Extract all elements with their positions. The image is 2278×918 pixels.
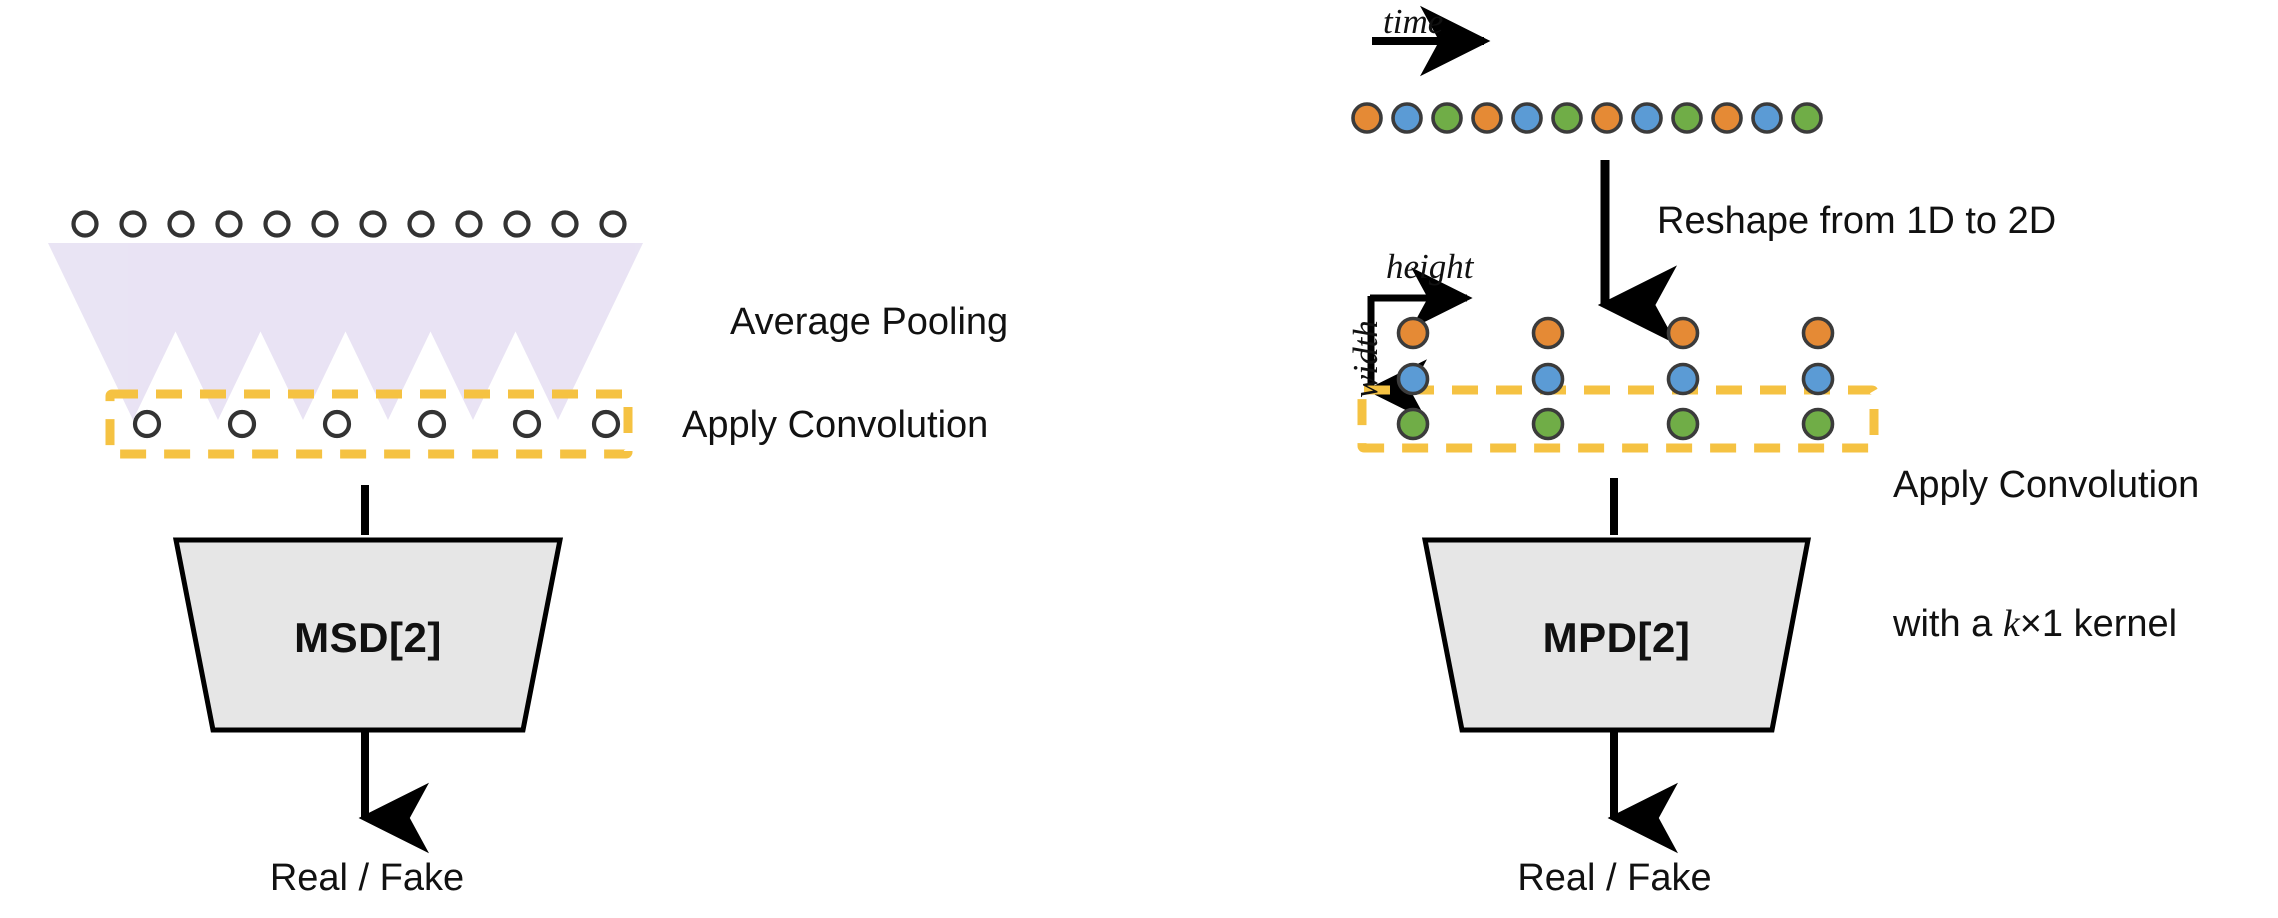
mpd-conv-kernel-k: k xyxy=(2003,603,2020,645)
msd-pooled-circle xyxy=(135,412,159,436)
mpd-grid-circle-green xyxy=(1804,410,1833,439)
msd-output-label: Real / Fake xyxy=(175,855,559,901)
mpd-grid-circle-blue xyxy=(1669,365,1698,394)
mpd-grid-circle-orange xyxy=(1669,319,1698,348)
width-axis-label: width xyxy=(1345,320,1388,398)
msd-input-circle xyxy=(506,213,529,236)
time-axis-label: time xyxy=(1383,1,1443,44)
mpd-input-circle-green xyxy=(1793,104,1821,132)
diagram-canvas: Average Pooling Apply Convolution MSD[2]… xyxy=(0,0,2278,918)
msd-input-circle xyxy=(602,213,625,236)
msd-pooled-circle xyxy=(230,412,254,436)
mpd-grid-circle-green xyxy=(1669,410,1698,439)
msd-apply-convolution-label: Apply Convolution xyxy=(682,402,988,448)
mpd-input-circle-green xyxy=(1553,104,1581,132)
mpd-input-circle-green xyxy=(1433,104,1461,132)
msd-input-circle xyxy=(170,213,193,236)
mpd-input-circle-green xyxy=(1673,104,1701,132)
mpd-conv-line-1: Apply Convolution xyxy=(1893,462,2199,508)
mpd-output-label: Real / Fake xyxy=(1423,855,1806,901)
msd-pooled-circle xyxy=(325,412,349,436)
mpd-grid-circle-blue xyxy=(1399,365,1428,394)
msd-input-circle xyxy=(74,213,97,236)
msd-input-circle-row xyxy=(74,213,625,236)
mpd-conv-suffix: ×1 kernel xyxy=(2020,603,2177,645)
mpd-input-circle-blue xyxy=(1393,104,1421,132)
mpd-apply-convolution-label: Apply Convolution with a k×1 kernel xyxy=(1893,369,2199,740)
mpd-input-circle-row xyxy=(1353,104,1821,132)
msd-input-circle xyxy=(122,213,145,236)
mpd-input-circle-orange xyxy=(1713,104,1741,132)
average-pooling-label: Average Pooling xyxy=(730,299,1008,345)
mpd-grid-circle-green xyxy=(1534,410,1563,439)
msd-pooled-circle-row xyxy=(135,412,618,436)
mpd-grid-circle-blue xyxy=(1534,365,1563,394)
msd-pooled-circle xyxy=(515,412,539,436)
msd-input-circle xyxy=(554,213,577,236)
msd-input-circle xyxy=(218,213,241,236)
msd-pooled-circle xyxy=(594,412,618,436)
mpd-grid-circle-orange xyxy=(1399,319,1428,348)
mpd-grid-circle-green xyxy=(1399,410,1428,439)
msd-input-circle xyxy=(362,213,385,236)
mpd-block-label: MPD[2] xyxy=(1425,612,1808,663)
mpd-input-circle-blue xyxy=(1753,104,1781,132)
msd-input-circle xyxy=(266,213,289,236)
mpd-grid-circles xyxy=(1399,319,1833,439)
msd-input-circle xyxy=(410,213,433,236)
mpd-grid-circle-orange xyxy=(1534,319,1563,348)
mpd-input-circle-orange xyxy=(1353,104,1381,132)
mpd-conv-dashed-box xyxy=(1362,390,1874,448)
mpd-conv-line-2: with a k×1 kernel xyxy=(1893,601,2199,647)
mpd-grid-circle-orange xyxy=(1804,319,1833,348)
msd-block-label: MSD[2] xyxy=(176,612,560,663)
mpd-conv-prefix: with a xyxy=(1893,603,2003,645)
mpd-input-circle-orange xyxy=(1593,104,1621,132)
mpd-input-circle-orange xyxy=(1473,104,1501,132)
msd-input-circle xyxy=(314,213,337,236)
mpd-input-circle-blue xyxy=(1513,104,1541,132)
height-axis-label: height xyxy=(1386,246,1473,289)
mpd-input-circle-blue xyxy=(1633,104,1661,132)
msd-input-circle xyxy=(458,213,481,236)
msd-pooled-circle xyxy=(420,412,444,436)
mpd-grid-circle-blue xyxy=(1804,365,1833,394)
reshape-label: Reshape from 1D to 2D xyxy=(1657,198,2056,244)
